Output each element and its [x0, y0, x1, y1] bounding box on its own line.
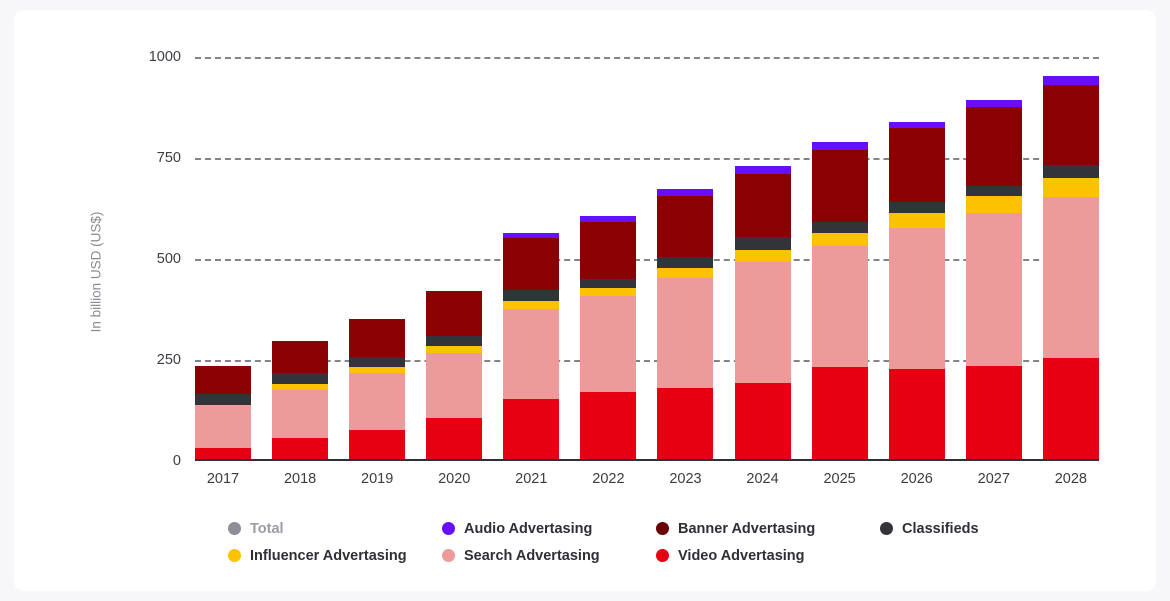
bar-segment[interactable] [195, 405, 251, 448]
legend-item-banner-advertasing[interactable]: Banner Advertasing [656, 521, 880, 537]
bar-segment[interactable] [812, 150, 868, 222]
x-axis-tick-label: 2026 [901, 471, 933, 487]
bar-segment[interactable] [812, 367, 868, 461]
legend-item-influencer-advertasing[interactable]: Influencer Advertasing [228, 548, 442, 564]
bar-segment[interactable] [580, 392, 636, 461]
y-axis-label: In billion USD (US$) [89, 212, 104, 333]
legend-item-label: Video Advertasing [678, 548, 805, 564]
bar-segment[interactable] [735, 250, 791, 262]
bar-segment[interactable] [735, 262, 791, 383]
bar-segment[interactable] [657, 257, 713, 268]
legend-item-label: Influencer Advertasing [250, 548, 407, 564]
bar-segment[interactable] [1043, 76, 1099, 85]
bar-group-2021[interactable]: 2021 [503, 57, 559, 461]
bar-segment[interactable] [1043, 197, 1099, 358]
chart-legend: TotalAudio AdvertasingBanner Advertasing… [228, 515, 1018, 569]
bar-segment[interactable] [349, 373, 405, 430]
bar-group-2025[interactable]: 2025 [812, 57, 868, 461]
bar-segment[interactable] [889, 128, 945, 202]
x-axis-tick-label: 2020 [438, 471, 470, 487]
bar-group-2022[interactable]: 2022 [580, 57, 636, 461]
x-axis-line [195, 459, 1099, 461]
bar-segment[interactable] [735, 383, 791, 461]
bar-segment[interactable] [966, 196, 1022, 213]
bar-group-2017[interactable]: 2017 [195, 57, 251, 461]
x-axis-tick-label: 2017 [207, 471, 239, 487]
bar-segment[interactable] [1043, 178, 1099, 197]
bar-segment[interactable] [657, 196, 713, 257]
x-axis-tick-label: 2021 [515, 471, 547, 487]
stacked-bar[interactable] [349, 319, 405, 461]
bar-segment[interactable] [503, 238, 559, 290]
legend-swatch-icon [228, 522, 241, 535]
stacked-bar[interactable] [657, 189, 713, 461]
legend-item-label: Audio Advertasing [464, 521, 592, 537]
x-axis-tick-label: 2018 [284, 471, 316, 487]
bar-segment[interactable] [966, 107, 1022, 186]
bar-segment[interactable] [812, 142, 868, 150]
stacked-bar[interactable] [272, 341, 328, 461]
y-axis-tick-label: 250 [157, 352, 181, 368]
bar-segment[interactable] [580, 288, 636, 296]
bar-segment[interactable] [889, 213, 945, 228]
bar-segment[interactable] [349, 430, 405, 461]
bar-segment[interactable] [195, 394, 251, 405]
legend-item-video-advertasing[interactable]: Video Advertasing [656, 548, 880, 564]
bar-group-2027[interactable]: 2027 [966, 57, 1022, 461]
bar-segment[interactable] [426, 291, 482, 336]
bar-group-2026[interactable]: 2026 [889, 57, 945, 461]
legend-item-label: Search Advertasing [464, 548, 600, 564]
bar-segment[interactable] [580, 296, 636, 392]
bar-group-2023[interactable]: 2023 [657, 57, 713, 461]
bar-segment[interactable] [657, 278, 713, 388]
bar-group-2018[interactable]: 2018 [272, 57, 328, 461]
legend-item-audio-advertasing[interactable]: Audio Advertasing [442, 521, 656, 537]
stacked-bar[interactable] [503, 233, 559, 461]
legend-swatch-icon [656, 549, 669, 562]
bar-series-container: 2017201820192020202120222023202420252026… [195, 57, 1099, 461]
chart-page: In billion USD (US$) 02505007501000 2017… [0, 0, 1170, 601]
x-axis-tick-label: 2027 [978, 471, 1010, 487]
bar-segment[interactable] [966, 186, 1022, 196]
bar-group-2024[interactable]: 2024 [735, 57, 791, 461]
bar-segment[interactable] [657, 189, 713, 196]
legend-swatch-icon [656, 522, 669, 535]
bar-segment[interactable] [812, 246, 868, 367]
bar-segment[interactable] [426, 418, 482, 461]
legend-item-search-advertasing[interactable]: Search Advertasing [442, 548, 656, 564]
stacked-bar[interactable] [195, 366, 251, 461]
bar-group-2019[interactable]: 2019 [349, 57, 405, 461]
bar-segment[interactable] [195, 366, 251, 394]
y-axis-tick-label: 500 [157, 251, 181, 267]
bar-segment[interactable] [812, 222, 868, 233]
stacked-bar[interactable] [889, 122, 945, 461]
y-axis-tick-label: 750 [157, 150, 181, 166]
legend-item-label: Classifieds [902, 521, 979, 537]
legend-item-label: Banner Advertasing [678, 521, 815, 537]
x-axis-tick-label: 2019 [361, 471, 393, 487]
bar-segment[interactable] [735, 237, 791, 250]
stacked-bar[interactable] [426, 291, 482, 461]
bar-segment[interactable] [272, 341, 328, 373]
x-axis-tick-label: 2025 [823, 471, 855, 487]
bar-segment[interactable] [812, 233, 868, 246]
bar-segment[interactable] [889, 369, 945, 461]
bar-segment[interactable] [1043, 165, 1099, 178]
stacked-bar[interactable] [580, 216, 636, 461]
bar-segment[interactable] [657, 388, 713, 461]
legend-item-total[interactable]: Total [228, 521, 442, 537]
stacked-bar[interactable] [1043, 76, 1099, 461]
y-axis-tick-label: 1000 [149, 49, 181, 65]
bar-segment[interactable] [272, 373, 328, 384]
bar-segment[interactable] [349, 357, 405, 367]
x-axis-tick-label: 2028 [1055, 471, 1087, 487]
bar-segment[interactable] [580, 279, 636, 288]
bar-segment[interactable] [503, 309, 559, 399]
plot-area: 02505007501000 2017201820192020202120222… [195, 57, 1099, 461]
y-axis-tick-label: 0 [173, 453, 181, 469]
bar-group-2020[interactable]: 2020 [426, 57, 482, 461]
bar-segment[interactable] [889, 228, 945, 369]
bar-segment[interactable] [966, 366, 1022, 461]
x-axis-tick-label: 2022 [592, 471, 624, 487]
bar-segment[interactable] [426, 346, 482, 353]
bar-segment[interactable] [966, 100, 1022, 107]
legend-item-label: Total [250, 521, 284, 537]
bar-segment[interactable] [272, 390, 328, 438]
bar-group-2028[interactable]: 2028 [1043, 57, 1099, 461]
bar-segment[interactable] [735, 174, 791, 237]
bar-segment[interactable] [657, 268, 713, 278]
legend-swatch-icon [442, 522, 455, 535]
bar-segment[interactable] [503, 301, 559, 309]
legend-swatch-icon [228, 549, 241, 562]
x-axis-tick-label: 2024 [746, 471, 778, 487]
bar-segment[interactable] [426, 336, 482, 346]
stacked-bar[interactable] [735, 166, 791, 461]
bar-segment[interactable] [503, 290, 559, 301]
legend-swatch-icon [442, 549, 455, 562]
chart-card: In billion USD (US$) 02505007501000 2017… [14, 10, 1156, 591]
stacked-bar[interactable] [812, 142, 868, 461]
bar-segment[interactable] [349, 319, 405, 357]
bar-segment[interactable] [272, 438, 328, 461]
bar-segment[interactable] [966, 213, 1022, 366]
legend-item-classifieds[interactable]: Classifieds [880, 521, 1020, 537]
bar-segment[interactable] [1043, 358, 1099, 461]
legend-swatch-icon [880, 522, 893, 535]
stacked-bar[interactable] [966, 100, 1022, 461]
bar-segment[interactable] [503, 399, 559, 461]
x-axis-tick-label: 2023 [669, 471, 701, 487]
bar-segment[interactable] [580, 222, 636, 279]
bar-segment[interactable] [735, 166, 791, 174]
bar-segment[interactable] [426, 353, 482, 418]
bar-segment[interactable] [889, 202, 945, 213]
bar-segment[interactable] [1043, 85, 1099, 165]
